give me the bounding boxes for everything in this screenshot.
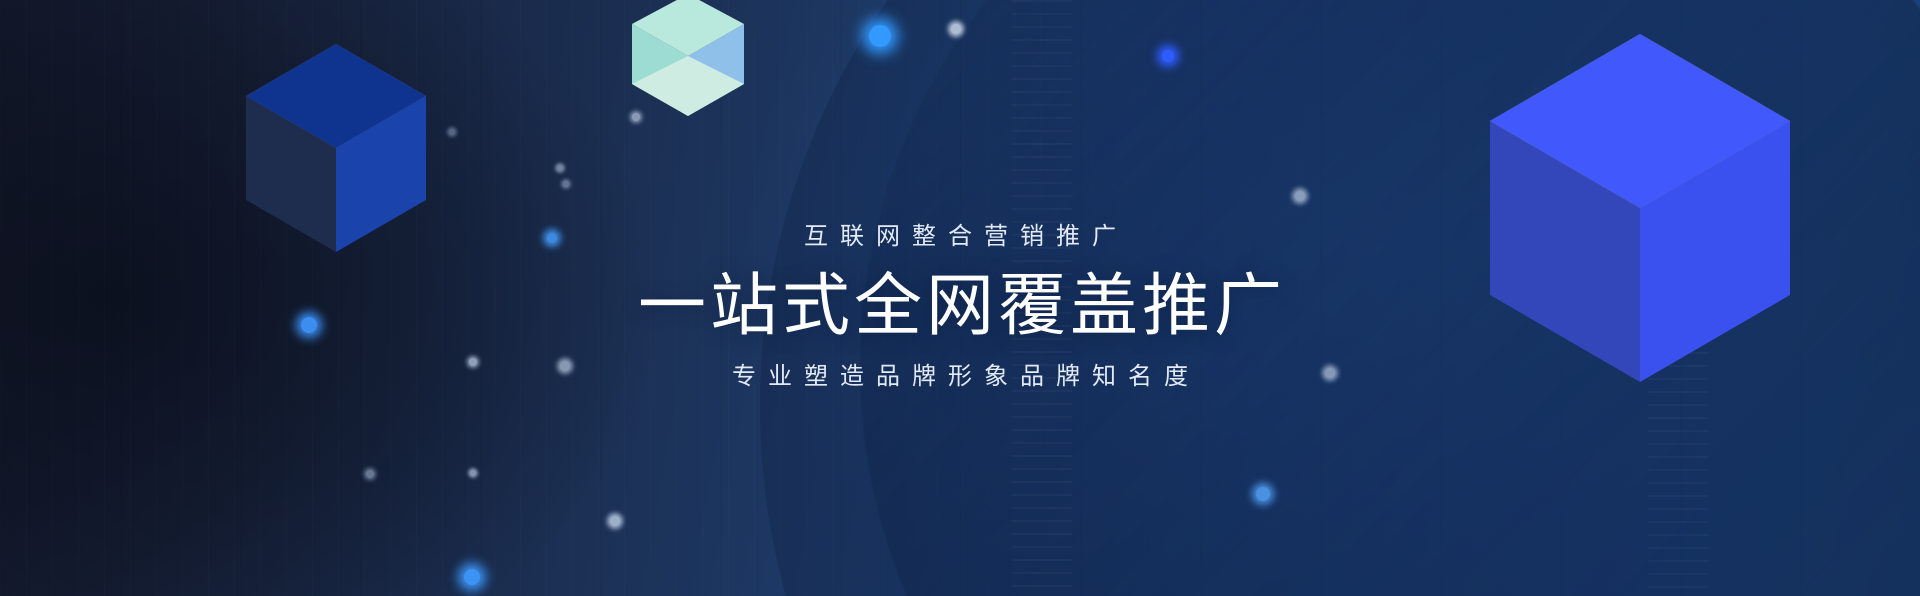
- dot-cyan-right-low: [1256, 487, 1270, 501]
- dot-white-right-mid: [1295, 191, 1305, 201]
- hero-banner: 互联网整合营销推广 一站式全网覆盖推广 专业塑造品牌形象品牌知名度: [0, 0, 1920, 596]
- dot-white-lower-mid-2: [470, 470, 476, 476]
- eyebrow-text: 互联网整合营销推广: [0, 222, 1920, 252]
- dot-white-lower-right: [610, 516, 620, 526]
- dot-white-bottom-left: [366, 470, 374, 478]
- subline-text: 专业塑造品牌形象品牌知名度: [0, 362, 1920, 392]
- dot-white-tiny-left-2: [557, 165, 563, 171]
- headline-text: 一站式全网覆盖推广: [0, 268, 1920, 344]
- dot-white-small-upper: [951, 24, 961, 34]
- dot-violet-upper-right: [1162, 50, 1174, 62]
- dot-white-tiny-left: [632, 113, 640, 121]
- dot-cyan-large-upper: [869, 25, 891, 47]
- dot-white-lower-left: [563, 181, 569, 187]
- dot-white-far-left: [449, 129, 455, 135]
- hero-text-block: 互联网整合营销推广 一站式全网覆盖推广 专业塑造品牌形象品牌知名度: [0, 222, 1920, 392]
- dot-cyan-bottom: [464, 569, 480, 585]
